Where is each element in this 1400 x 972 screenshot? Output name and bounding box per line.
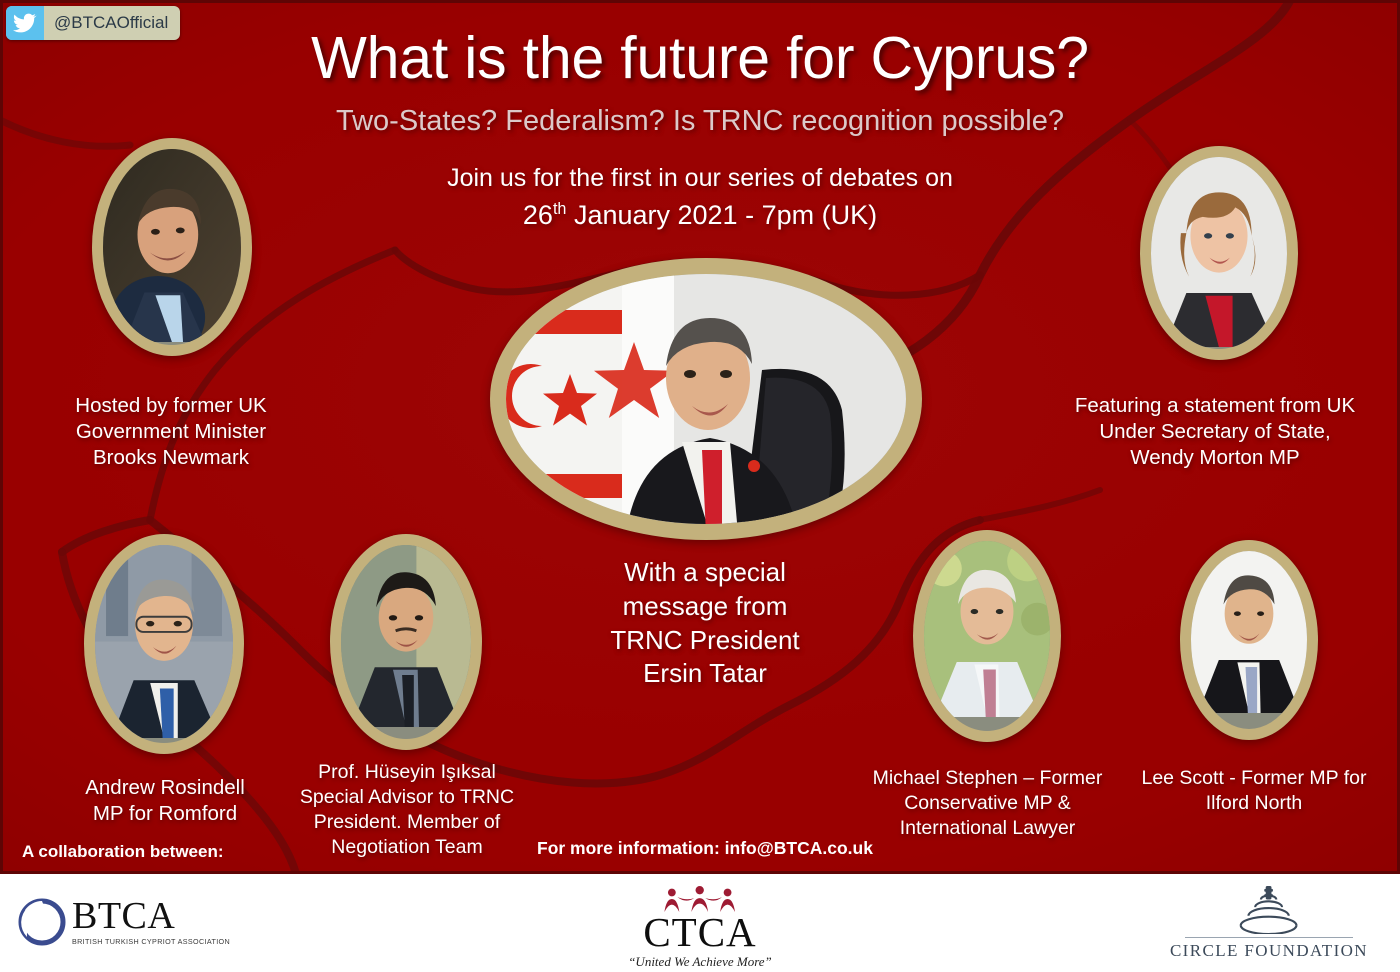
- event-details: Join us for the first in our series of d…: [0, 160, 1400, 235]
- event-date-ordinal: th: [553, 200, 567, 218]
- portrait-frame-ersin-tatar: [490, 258, 922, 540]
- caption-line: Lee Scott - Former MP for: [1124, 766, 1384, 791]
- page-title: What is the future for Cyprus?: [0, 28, 1400, 89]
- caption-lee-scott: Lee Scott - Former MP for Ilford North: [1124, 766, 1384, 816]
- caption-line: President. Member of: [276, 810, 538, 835]
- caption-michael-stephen: Michael Stephen – Former Conservative MP…: [855, 766, 1120, 841]
- collaboration-label: A collaboration between:: [22, 842, 224, 862]
- caption-wendy-morton: Featuring a statement from UK Under Secr…: [1055, 393, 1375, 472]
- poster: @BTCAOfficial What is the future for Cyp…: [0, 0, 1400, 972]
- message-line: Ersin Tatar: [565, 657, 845, 691]
- contact-info: For more information: info@BTCA.co.uk: [537, 838, 873, 859]
- huseyin-isiksal-photo: [341, 545, 471, 727]
- portrait-frame-andrew-rosindell: [84, 534, 244, 754]
- event-date-rest: January 2021 - 7pm (UK): [566, 200, 877, 230]
- caption-line: Government Minister: [26, 419, 316, 445]
- circle-foundation-name: Circle Foundation: [1170, 941, 1368, 961]
- center-message: With a special message from TRNC Preside…: [565, 556, 845, 691]
- message-line: TRNC President: [565, 624, 845, 658]
- caption-line: Negotiation Team: [276, 835, 538, 860]
- caption-line: Prof. Hüseyin Işıksal: [276, 760, 538, 785]
- andrew-rosindell-photo: [95, 545, 233, 738]
- logo-divider: [1185, 937, 1353, 938]
- caption-huseyin-isiksal: Prof. Hüseyin Işıksal Special Advisor to…: [276, 760, 538, 860]
- caption-line: Under Secretary of State,: [1055, 419, 1375, 445]
- caption-line: Brooks Newmark: [26, 445, 316, 471]
- twitter-handle-badge[interactable]: @BTCAOfficial: [6, 6, 180, 40]
- caption-line: Hosted by former UK: [26, 393, 316, 419]
- michael-stephen-photo: [924, 541, 1050, 717]
- circle-foundation-arcs-mark: [1211, 886, 1326, 934]
- event-date-day: 26: [523, 200, 553, 230]
- page-subtitle: Two-States? Federalism? Is TRNC recognit…: [0, 105, 1400, 138]
- lee-scott-photo: [1191, 551, 1307, 713]
- caption-line: Andrew Rosindell: [20, 775, 310, 801]
- message-line: message from: [565, 590, 845, 624]
- caption-line: MP for Romford: [20, 801, 310, 827]
- ersin-tatar-photo: [506, 274, 906, 524]
- caption-line: Michael Stephen – Former: [855, 766, 1120, 791]
- message-line: With a special: [565, 556, 845, 590]
- portrait-frame-michael-stephen: [913, 530, 1061, 742]
- ctca-name: CTCA: [643, 912, 756, 953]
- caption-line: Conservative MP &: [855, 791, 1120, 816]
- caption-line: International Lawyer: [855, 816, 1120, 841]
- caption-andrew-rosindell: Andrew Rosindell MP for Romford: [20, 775, 310, 827]
- logo-circle-foundation[interactable]: Circle Foundation: [1170, 886, 1368, 961]
- portrait-frame-huseyin-isiksal: [330, 534, 482, 750]
- caption-line: Wendy Morton MP: [1055, 445, 1375, 471]
- portrait-frame-lee-scott: [1180, 540, 1318, 740]
- event-date-line: 26th January 2021 - 7pm (UK): [0, 196, 1400, 235]
- ctca-motto: “United We Achieve More”: [628, 954, 772, 970]
- caption-line: Featuring a statement from UK: [1055, 393, 1375, 419]
- twitter-bird-icon: [6, 6, 44, 40]
- caption-brooks-newmark: Hosted by former UK Government Minister …: [26, 393, 316, 472]
- join-line: Join us for the first in our series of d…: [0, 160, 1400, 196]
- caption-line: Special Advisor to TRNC: [276, 785, 538, 810]
- twitter-handle-label: @BTCAOfficial: [54, 13, 168, 33]
- caption-line: Ilford North: [1124, 791, 1384, 816]
